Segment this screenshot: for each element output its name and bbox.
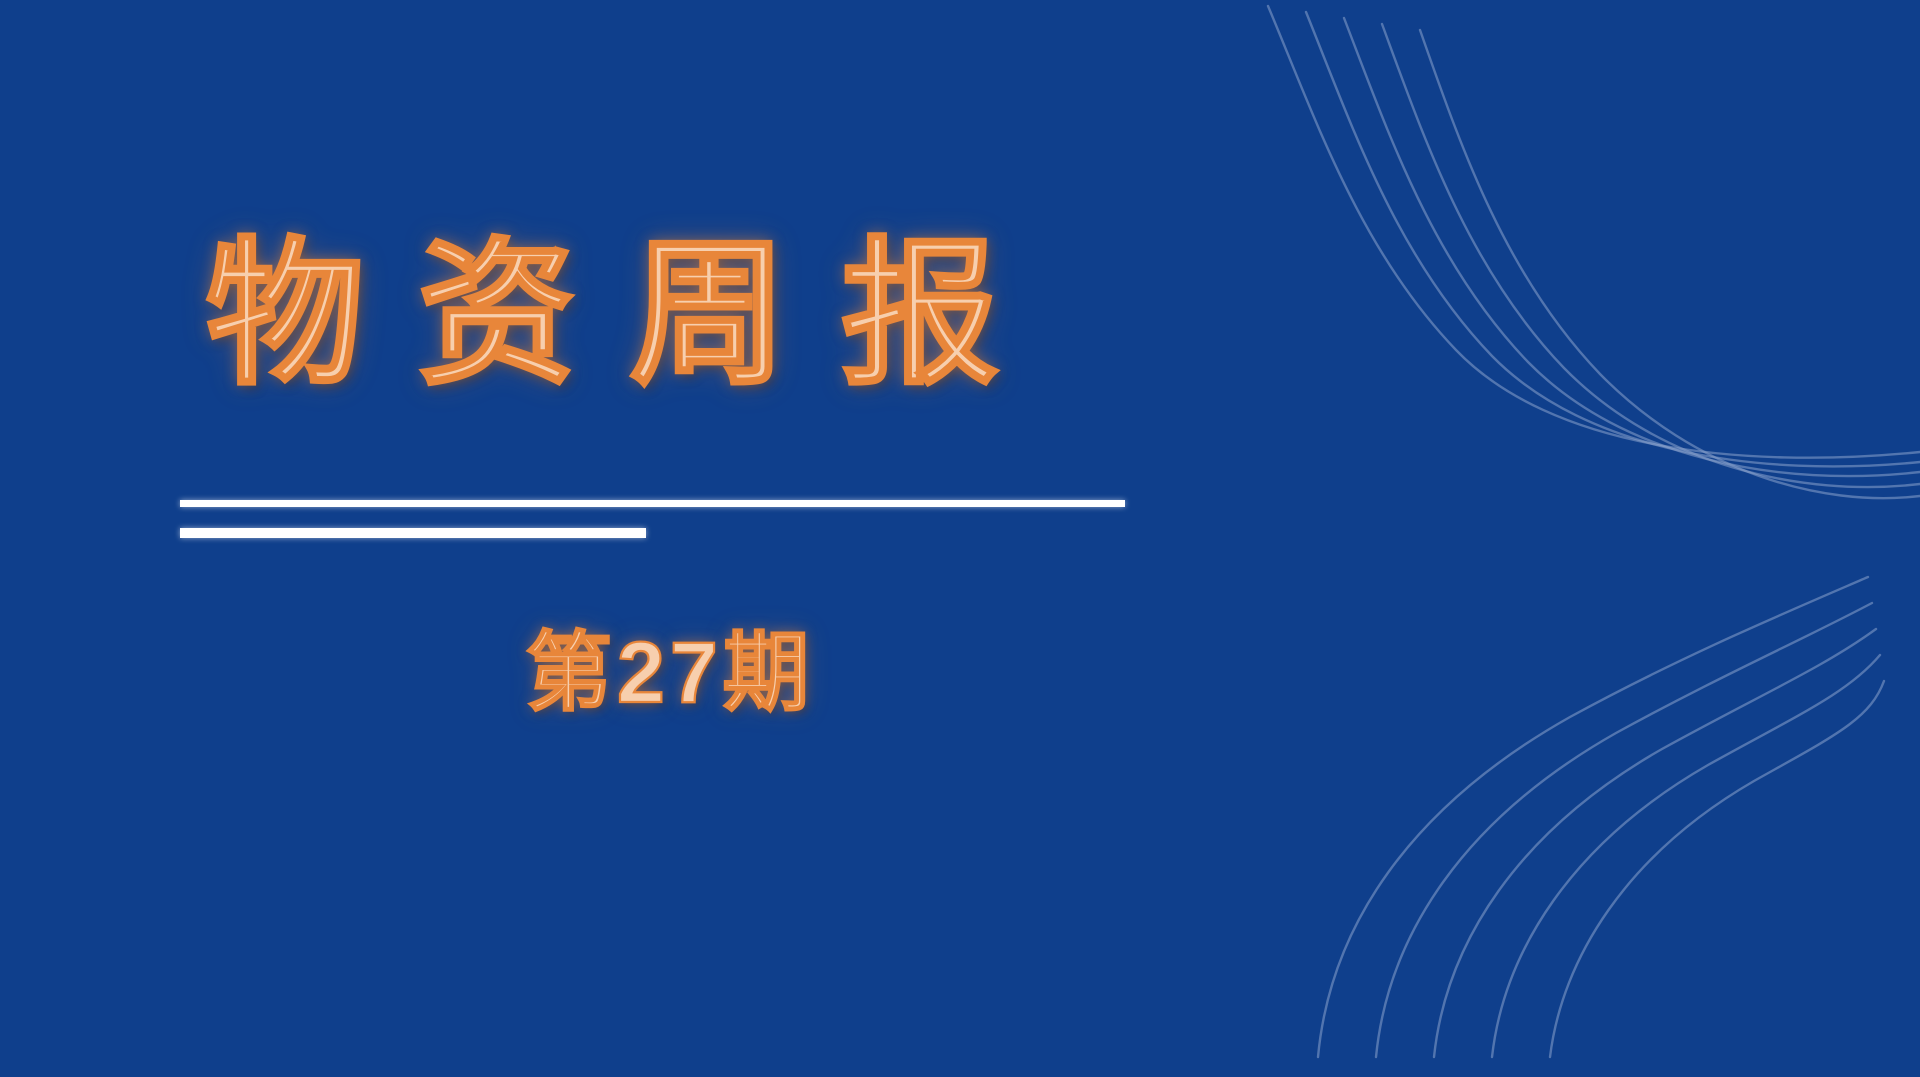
- arc-line-5: [1550, 681, 1884, 1057]
- title-underline-long: [180, 500, 1125, 507]
- wave-line-3: [1344, 18, 1920, 476]
- wave-line-5: [1420, 30, 1920, 498]
- slide-canvas: 物资周报 第27期: [0, 0, 1920, 1077]
- title-block: 物资周报: [180, 236, 1180, 394]
- wave-lines-top-right-decoration: [1220, 0, 1920, 540]
- arc-line-1: [1318, 577, 1868, 1057]
- page-title: 物资周报: [180, 236, 1180, 394]
- wave-line-1: [1268, 6, 1920, 458]
- arc-lines-bottom-right-decoration: [1240, 557, 1920, 1077]
- title-underline-short: [180, 528, 646, 538]
- issue-subtitle: 第27期: [180, 630, 1160, 716]
- wave-line-2: [1306, 12, 1920, 466]
- wave-line-4: [1382, 24, 1920, 487]
- arc-line-4: [1492, 655, 1880, 1057]
- arc-line-2: [1376, 603, 1872, 1057]
- arc-line-3: [1434, 629, 1876, 1057]
